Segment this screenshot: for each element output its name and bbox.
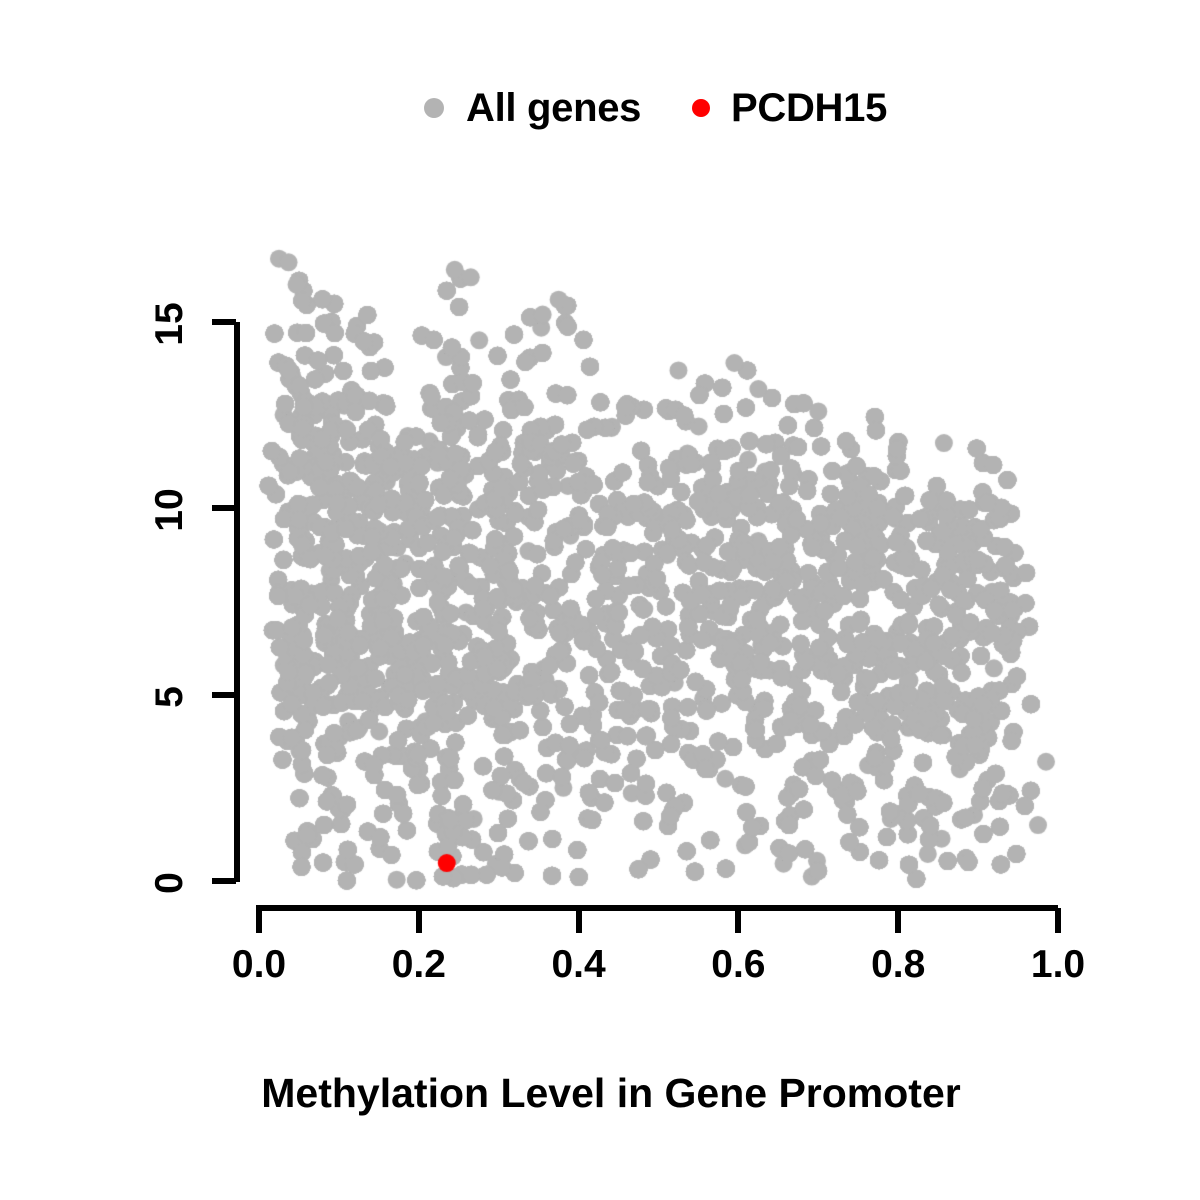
x-axis-title: Methylation Level in Gene Promoter <box>0 1070 1200 1117</box>
scatter-plot-canvas <box>0 0 1200 1200</box>
x-axis-line <box>256 905 1058 911</box>
x-tick-mark <box>256 908 262 933</box>
x-tick-label: 0.2 <box>349 943 489 987</box>
chart-legend: All genes PCDH15 <box>0 78 1200 138</box>
x-tick-label: 0.6 <box>668 943 808 987</box>
x-tick-label: 1.0 <box>988 943 1128 987</box>
legend-label-all-genes: All genes <box>466 86 641 131</box>
x-tick-mark <box>416 908 422 933</box>
red-dot-icon <box>692 99 710 117</box>
y-tick-mark <box>212 878 236 884</box>
legend-label-pcdh15: PCDH15 <box>731 86 887 131</box>
gray-dot-icon <box>424 98 444 118</box>
y-tick-label: 0 <box>148 853 192 913</box>
y-tick-mark <box>212 692 236 698</box>
x-tick-label: 0.0 <box>189 943 329 987</box>
legend-entry-pcdh15[interactable]: PCDH15 <box>692 78 887 138</box>
x-tick-mark <box>1055 908 1061 933</box>
scatter-plot-figure: All genes PCDH15 051015 0.00.20.40.60.81… <box>0 0 1200 1200</box>
y-tick-label: 15 <box>148 294 192 354</box>
x-tick-mark <box>735 908 741 933</box>
y-tick-mark <box>212 319 236 325</box>
x-tick-mark <box>576 908 582 933</box>
y-tick-label: 10 <box>148 480 192 540</box>
y-tick-mark <box>212 505 236 511</box>
x-tick-mark <box>895 908 901 933</box>
x-tick-label: 0.8 <box>828 943 968 987</box>
y-axis-line <box>234 322 240 882</box>
y-tick-label: 5 <box>148 667 192 727</box>
legend-entry-all-genes[interactable]: All genes <box>424 78 641 138</box>
x-tick-label: 0.4 <box>509 943 649 987</box>
